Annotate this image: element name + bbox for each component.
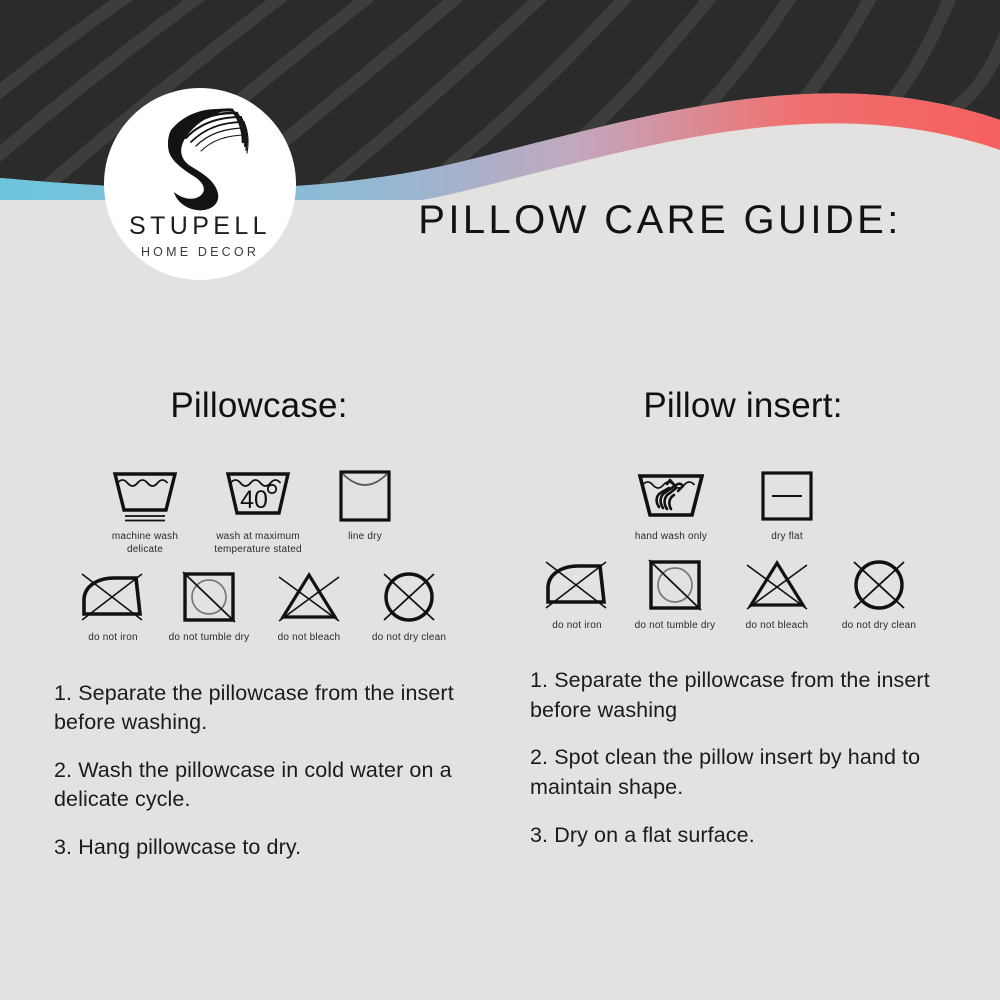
care-caption: wash at maximum temperature stated [210, 531, 306, 556]
column-pillow-insert: Pillow insert: hand wash on [528, 388, 988, 868]
brand-logo-badge: STUPELL HOME DECOR [104, 88, 296, 280]
hand-wash-only-icon [631, 467, 711, 525]
step-item: 3. Dry on a flat surface. [530, 821, 950, 851]
wash-temperature-value: 40 [240, 486, 268, 514]
care-icon-do-not-bleach: do not bleach [266, 568, 352, 645]
care-icon-dry-flat: dry flat [750, 467, 824, 544]
do-not-tumble-dry-icon [176, 568, 242, 626]
column-heading-pillow-insert: Pillow insert: [528, 388, 988, 423]
do-not-dry-clean-icon [843, 556, 915, 614]
step-item: 1. Separate the pillowcase from the inse… [530, 666, 950, 725]
step-item: 2. Wash the pillowcase in cold water on … [54, 756, 484, 815]
care-icon-do-not-tumble-dry: do not tumble dry [632, 556, 718, 633]
step-item: 3. Hang pillowcase to dry. [54, 833, 484, 863]
do-not-bleach-icon [739, 556, 815, 614]
care-caption: do not tumble dry [166, 632, 252, 645]
care-caption: machine wash delicate [102, 531, 188, 556]
do-not-bleach-icon [271, 568, 347, 626]
care-caption: line dry [328, 531, 402, 544]
care-icon-do-not-iron: do not iron [74, 568, 152, 645]
care-icon-row-pillowcase-2: do not iron do not tumble dry do not ble… [50, 568, 520, 645]
do-not-iron-icon [538, 556, 616, 614]
care-icon-do-not-tumble-dry: do not tumble dry [166, 568, 252, 645]
care-icon-do-not-bleach: do not bleach [734, 556, 820, 633]
care-caption: do not bleach [266, 632, 352, 645]
care-caption: do not dry clean [366, 632, 452, 645]
pillow-care-guide-page: STUPELL HOME DECOR PILLOW CARE GUIDE: Pi… [0, 0, 1000, 1000]
care-icon-do-not-iron: do not iron [538, 556, 616, 633]
care-icon-line-dry: line dry [328, 467, 402, 544]
steps-pillowcase: 1. Separate the pillowcase from the inse… [50, 679, 520, 863]
care-icon-wash-max-temperature: 40 wash at maximum temperature stated [210, 467, 306, 556]
column-pillowcase: Pillowcase: machine wash delicate 40 [50, 388, 520, 881]
dry-flat-icon [756, 467, 818, 525]
care-icon-row-pillowcase-1: machine wash delicate 40 wash at maximum… [50, 467, 520, 556]
brand-tagline: HOME DECOR [141, 246, 259, 259]
line-dry-icon [334, 467, 396, 525]
care-icon-do-not-dry-clean: do not dry clean [366, 568, 452, 645]
do-not-dry-clean-icon [373, 568, 445, 626]
care-icon-machine-wash-delicate: machine wash delicate [102, 467, 188, 556]
wash-max-temperature-40-icon: 40 [220, 467, 296, 525]
do-not-iron-icon [74, 568, 152, 626]
care-icon-row-insert-2: do not iron do not tumble dry do not ble… [528, 556, 988, 633]
care-caption: do not iron [76, 632, 150, 645]
do-not-tumble-dry-icon [642, 556, 708, 614]
care-caption: do not tumble dry [632, 620, 718, 633]
care-icon-hand-wash-only: hand wash only [628, 467, 714, 544]
stupell-swoosh-logo-icon [140, 104, 260, 212]
step-item: 1. Separate the pillowcase from the inse… [54, 679, 484, 738]
care-caption: hand wash only [628, 531, 714, 544]
steps-pillow-insert: 1. Separate the pillowcase from the inse… [528, 666, 988, 850]
care-caption: do not iron [540, 620, 614, 633]
care-icon-row-insert-1: hand wash only dry flat [528, 467, 988, 544]
care-icon-do-not-dry-clean: do not dry clean [836, 556, 922, 633]
machine-wash-delicate-icon [107, 467, 183, 525]
step-item: 2. Spot clean the pillow insert by hand … [530, 743, 950, 802]
care-caption: do not dry clean [836, 620, 922, 633]
page-title: PILLOW CARE GUIDE: [0, 198, 1000, 243]
care-caption: dry flat [750, 531, 824, 544]
column-heading-pillowcase: Pillowcase: [50, 388, 520, 423]
care-caption: do not bleach [734, 620, 820, 633]
